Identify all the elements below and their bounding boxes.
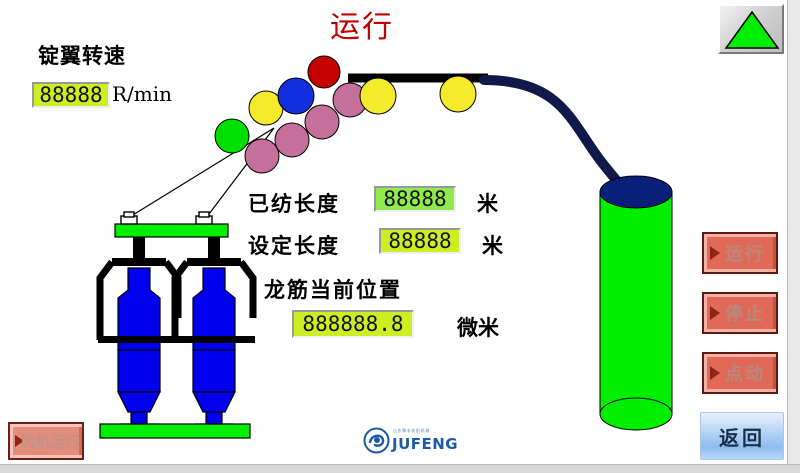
field-flyer-speed[interactable]: 88888 [32,82,110,108]
field-spun-length[interactable]: 88888 [374,186,456,212]
jufeng-mark-icon [363,427,390,454]
jog-button[interactable]: 点动 [702,352,778,394]
hmi-screen: 运行 锭翼转速 已纺长度 设定长度 龙筋当前位置 88888 88888 888… [0,0,800,473]
label-spun-length: 已纺长度 [248,188,340,218]
unit-rail-position: 微米 [457,312,499,342]
back-button[interactable]: 返回 [700,412,784,460]
run-button-label: 运行 [704,234,776,272]
company-logo: 山东聚丰纺织机械 JUFENG [363,427,459,457]
page-title: 运行 [330,2,394,46]
draft-roller [275,123,309,157]
triangle-indicator-button[interactable] [718,4,784,54]
triangle-up-icon [723,9,781,51]
draft-roller [278,78,314,114]
draft-roller [440,76,476,112]
bottom-rail [100,424,250,438]
draft-roller [215,119,249,153]
label-rail-position: 龙筋当前位置 [264,274,402,304]
label-set-length: 设定长度 [248,230,340,260]
bobbin-assembly-right [173,212,255,432]
unit-set-length: 米 [482,230,503,260]
logo-wordmark: JUFENG [392,435,458,453]
run-button[interactable]: 运行 [702,232,778,274]
unit-spun-length: 米 [477,188,498,218]
draft-roller [305,105,339,139]
yarn-curve [484,80,624,190]
field-rail-position[interactable]: 888888.8 [292,310,414,338]
stop-button-label: 停止 [704,294,776,332]
right-frame-strip [787,0,800,473]
sliver-can [600,176,672,430]
draft-roller [245,139,279,173]
stop-button[interactable]: 停止 [702,292,778,334]
field-set-length[interactable]: 88888 [379,228,461,254]
draft-roller [360,78,396,114]
logo-top-text: 山东聚丰纺织机械 [393,428,430,434]
fan-run-button-label: 风机运行 [10,424,82,458]
bottom-frame-strip [0,464,800,473]
unit-flyer-speed: R/min [112,82,172,106]
label-flyer-speed: 锭翼转速 [38,40,126,70]
draft-roller [308,56,340,88]
jog-button-label: 点动 [704,354,776,392]
fan-run-button[interactable]: 风机运行 [8,422,84,460]
